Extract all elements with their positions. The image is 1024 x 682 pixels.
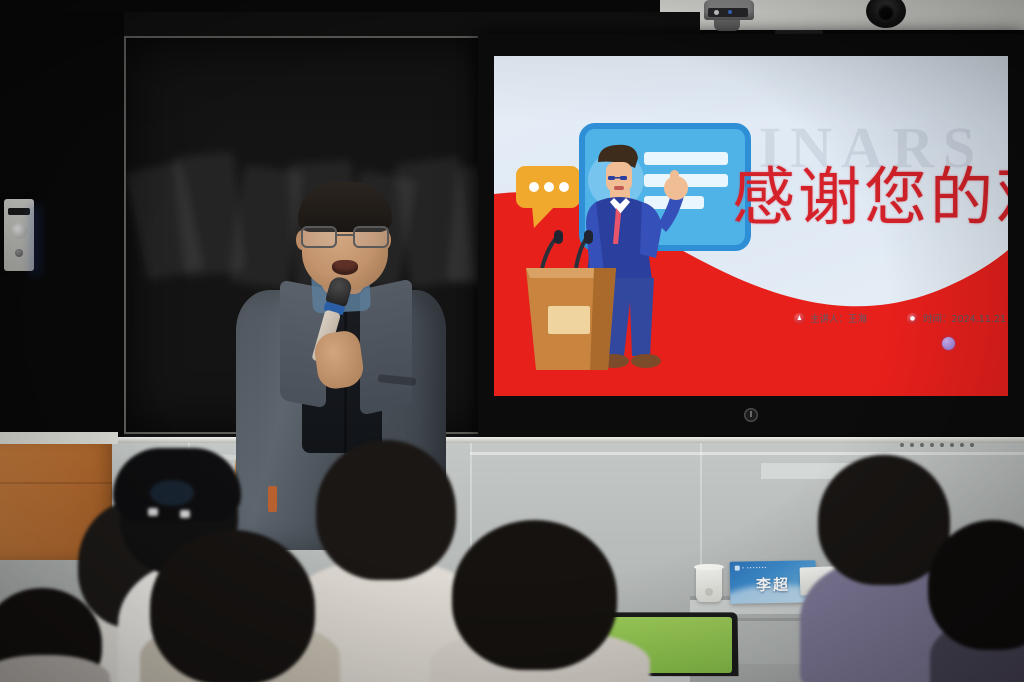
slide-accent-dot [942, 337, 955, 350]
clock-icon: ● [907, 313, 918, 324]
jacket-orange-tag [268, 486, 277, 512]
podium [526, 268, 616, 370]
audience-person-4-head [452, 520, 617, 670]
display-power-button[interactable] [744, 408, 758, 422]
podium-microphones-icon [542, 230, 593, 268]
presenter-at-podium-illustration [512, 118, 772, 388]
ceiling-dome-camera-icon [866, 0, 906, 34]
ceiling-projector-camera-icon [700, 0, 758, 38]
presenter-hair [298, 182, 392, 232]
wall-seam-upper [0, 437, 1024, 443]
slide-title: 感谢您的观看 [732, 166, 1008, 229]
slide-meta-date: ● 时间：2024.11.21 [907, 311, 1006, 325]
paper-cup [696, 566, 722, 602]
eyeglasses-icon [298, 226, 394, 250]
slide-meta-date-label: 时间：2024.11.21 [923, 311, 1006, 325]
slide-meta-speaker: ♟ 主讲人：王海 [794, 311, 867, 325]
interactive-display[interactable]: SEMINARS [478, 34, 1024, 436]
audience-person-2-head [150, 530, 315, 682]
cap-strap-left [148, 508, 158, 516]
placard-org-label: • ••••••• [735, 565, 767, 572]
speech-bubble-icon [516, 166, 580, 228]
wall-speaker-grille-icon [900, 441, 976, 449]
wall-seam-lower [470, 452, 1024, 455]
cap-strap-right [180, 510, 190, 518]
wall-glow [30, 205, 40, 275]
presentation-slide: SEMINARS [494, 56, 1008, 396]
classroom-seminar-photo: SEMINARS [0, 0, 1024, 682]
cap-back-opening [150, 480, 194, 506]
slide-meta-speaker-label: 主讲人：王海 [810, 311, 867, 325]
slide-meta-row: ♟ 主讲人：王海 ● 时间：2024.11.21 [794, 311, 1006, 325]
person-icon: ♟ [794, 313, 805, 324]
presenter-mouth [332, 260, 358, 275]
audience-person-3-head [316, 440, 456, 580]
display-screen: SEMINARS [494, 56, 1008, 396]
